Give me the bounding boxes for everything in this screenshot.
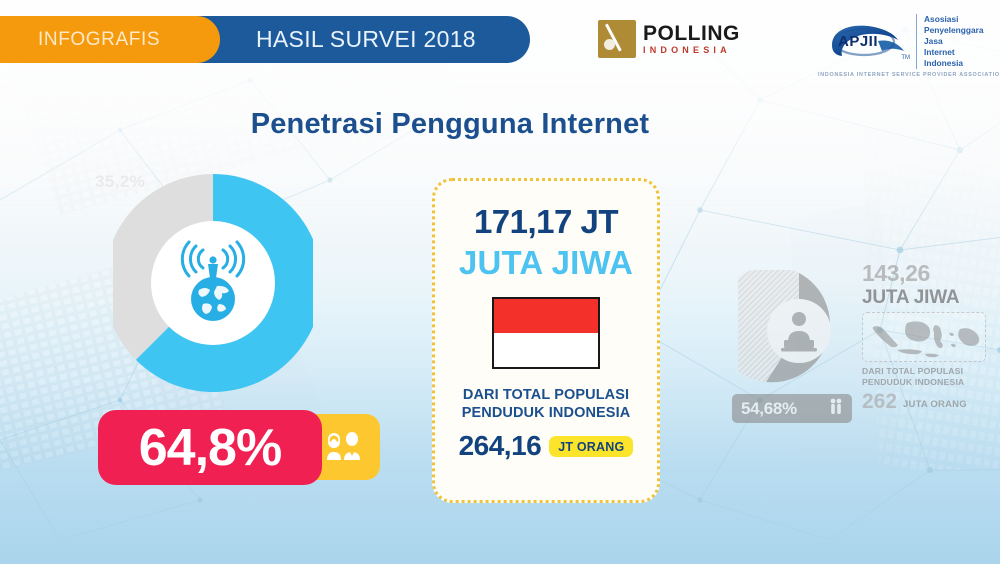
apjii-name-line-3: Jasa: [924, 36, 984, 47]
population-caption-line-2: PENDUDUK INDONESIA: [462, 405, 631, 423]
apjii-full-name: Asosiasi Penyelenggara Jasa Internet Ind…: [916, 14, 984, 69]
header-infografis-label: INFOGRAFIS: [38, 29, 160, 51]
previous-survey-population-number: 262: [862, 391, 897, 412]
total-population-number: 264,16: [459, 432, 542, 460]
penetration-donut-chart: [113, 168, 313, 398]
internet-users-unit: JUTA JIWA: [459, 246, 633, 279]
apjii-name-line-2: Penyelenggara: [924, 25, 984, 36]
previous-survey-population-unit: JUTA ORANG: [903, 400, 967, 413]
previous-survey-number: 143,26: [862, 262, 990, 285]
header-survey-title-label: HASIL SURVEI 2018: [256, 26, 476, 53]
apjii-trademark-label: TM: [901, 55, 910, 61]
population-caption-line-1: DARI TOTAL POPULASI: [463, 387, 629, 405]
previous-survey-percent-label: 54,68%: [741, 400, 797, 417]
previous-survey-panel: 54,68% 143,26 JUTA JIWA: [722, 262, 990, 440]
header-infografis-tag: INFOGRAFIS: [0, 16, 220, 63]
internet-users-card: 171,17 JT JUTA JIWA DARI TOTAL POPULASI …: [432, 178, 660, 503]
infographic-canvas: HASIL SURVEI 2018 INFOGRAFIS POLLING IND…: [0, 0, 1000, 564]
previous-survey-percent-badge: 54,68%: [732, 394, 852, 423]
polling-indonesia-logo: POLLING INDONESIA: [598, 20, 740, 58]
apjii-tagline-label: INDONESIA INTERNET SERVICE PROVIDER ASSO…: [818, 72, 1000, 78]
previous-survey-donut-chart: [738, 270, 860, 392]
header-survey-title-bar: HASIL SURVEI 2018: [178, 16, 530, 63]
donut-secondary-percent-label: 35,2%: [95, 172, 145, 192]
apjii-name-line-4: Internet: [924, 47, 984, 58]
previous-survey-unit: JUTA JIWA: [862, 288, 990, 307]
apjii-name-line-5: Indonesia: [924, 58, 984, 69]
polling-pen-icon: [598, 20, 636, 58]
apjii-swoosh-icon: APJII TM: [818, 21, 910, 63]
polling-logo-name: POLLING: [643, 23, 740, 44]
previous-survey-caption-line-1: DARI TOTAL POPULASI: [862, 366, 990, 377]
penetration-percent-label: 64,8%: [139, 422, 281, 474]
apjii-logo: APJII TM Asosiasi Penyelenggara Jasa Int…: [818, 14, 1000, 78]
apjii-acronym-label: APJII: [838, 33, 878, 50]
previous-survey-caption-line-2: PENDUDUK INDONESIA: [862, 377, 990, 388]
internet-users-number: 171,17 JT: [474, 205, 618, 238]
indonesia-map-icon: [862, 312, 986, 362]
apjii-name-line-1: Asosiasi: [924, 14, 984, 25]
indonesia-flag-icon: [492, 297, 600, 369]
polling-logo-subname: INDONESIA: [643, 46, 740, 55]
total-population-unit-chip: JT ORANG: [549, 436, 633, 458]
people-icon: [324, 430, 364, 465]
page-title: Penetrasi Pengguna Internet: [0, 108, 900, 141]
people-pair-icon: [829, 398, 843, 419]
penetration-percent-badge: 64,8%: [98, 410, 322, 485]
